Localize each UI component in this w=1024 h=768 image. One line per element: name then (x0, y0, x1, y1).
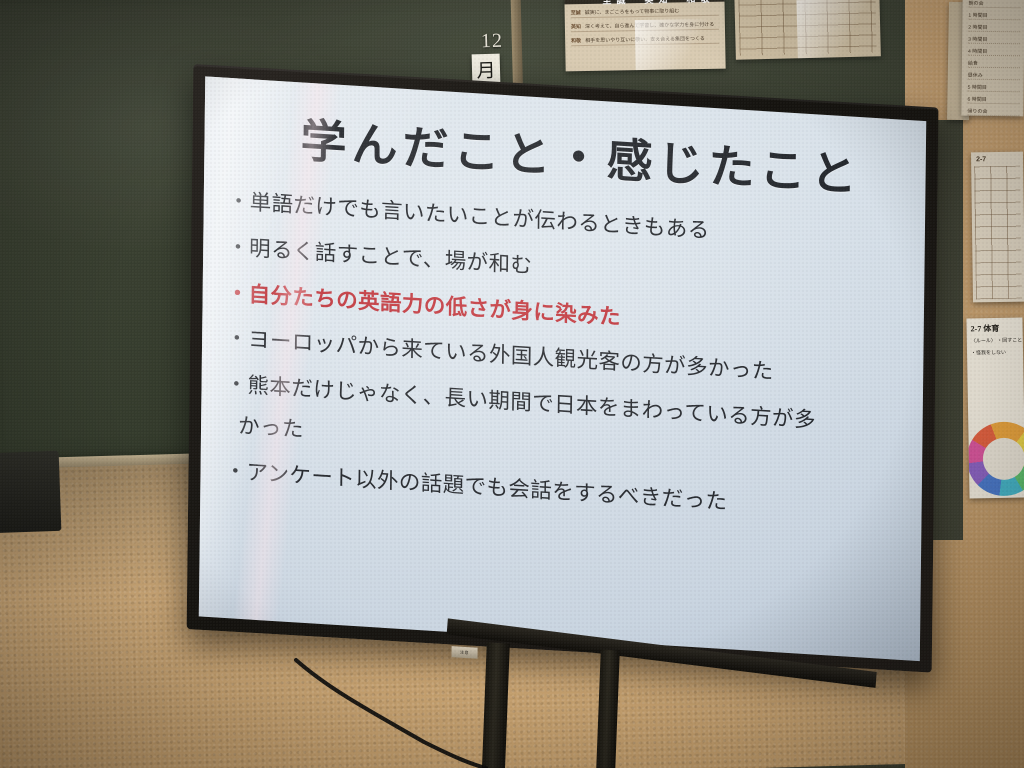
slide-title: 学んだこと・感じたこと (300, 104, 862, 205)
list-item: 6 時間目 (967, 96, 1019, 105)
classroom-photo-scene: 12 月 至誠 英知 和敬 至誠 誠実に、まごころをもって物事に取り組む 英知 … (0, 0, 1024, 768)
list-item: 帰りの会 (967, 108, 1019, 117)
list-item: 4 時間目 (968, 48, 1020, 57)
poster-class-heading: 2-7 (976, 156, 1023, 164)
list-item: 給食 (968, 60, 1020, 69)
poster-pe-rule-1: 〈ルール〉 ・回すこと (971, 338, 1023, 346)
list-item: 1 時間目 (968, 12, 1020, 21)
poster-class-2-7-sheet: 2-7 (971, 152, 1024, 303)
poster-glare (796, 0, 880, 60)
poster-class-grid (974, 166, 1022, 300)
list-item: 5 時間目 (968, 84, 1020, 93)
television: 学んだこと・感じたこと ・単語だけでも言いたいことが伝わるときもある ・明るく話… (146, 15, 954, 725)
classroom-desk (0, 451, 61, 533)
motto-text: 誠実に、まごころをもって物事に取り組む (585, 7, 680, 16)
list-item: 3 時間目 (968, 36, 1020, 45)
poster-motto-row: 至誠 誠実に、まごころをもって物事に取り組む (571, 6, 719, 19)
poster-pe-rule-2: ・怪我をしない (971, 349, 1023, 357)
poster-daily-schedule: 朝の会 1 時間目 2 時間目 3 時間目 4 時間目 給食 昼休み 5 時間目… (961, 0, 1024, 116)
tv-screen[interactable]: 学んだこと・感じたこと ・単語だけでも言いたいことが伝わるときもある ・明るく話… (199, 76, 926, 661)
poster-pe-color-wheel: 2-7 体育 〈ルール〉 ・回すこと ・怪我をしない (966, 318, 1024, 499)
list-item: 朝の会 (969, 0, 1021, 8)
tv-stand-leg-left (481, 642, 510, 768)
list-item: 2 時間目 (968, 24, 1020, 33)
tv-bezel-label: 注意 (451, 646, 477, 659)
motto-key: 至誠 (571, 9, 581, 16)
color-wheel-diagram (966, 421, 1024, 496)
slide-bullet-list: ・単語だけでも言いたいことが伝わるときもある ・明るく話すことで、場が和む ・自… (224, 188, 919, 546)
list-item: 昼休み (968, 72, 1020, 81)
poster-pe-heading: 2-7 体育 (971, 323, 1023, 335)
presentation-slide: 学んだこと・感じたこと ・単語だけでも言いたいことが伝わるときもある ・明るく話… (199, 76, 926, 661)
poster-timetable: 令和6年度 学年行事予定 (734, 0, 881, 60)
motto-key: 英知 (571, 23, 581, 30)
